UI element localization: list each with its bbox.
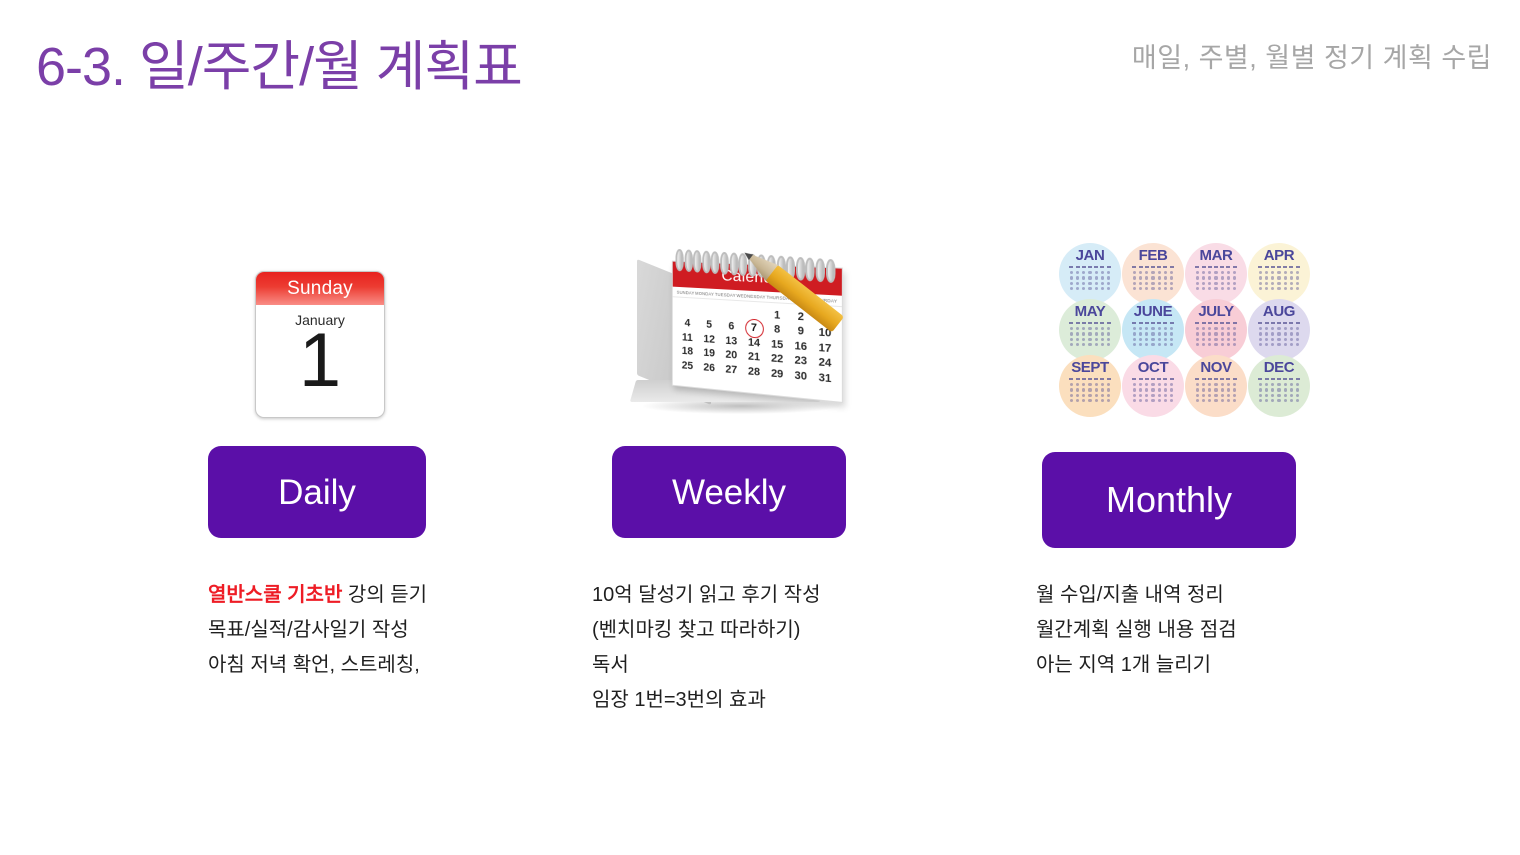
month-mini-cell xyxy=(1107,383,1110,386)
month-mini-cell xyxy=(1139,322,1143,324)
month-mini-cell xyxy=(1139,287,1142,290)
month-mini-cell xyxy=(1082,322,1086,324)
month-mini-cell xyxy=(1158,399,1161,402)
month-circle: SEPT xyxy=(1059,355,1121,417)
monthly-artwork: JANFEBMARAPRMAYJUNEJULYAUGSEPTOCTNOVDEC xyxy=(1020,236,1350,418)
desk-calendar-day: 5 xyxy=(700,318,719,331)
month-mini-cell xyxy=(1259,327,1262,330)
month-mini-cell xyxy=(1258,378,1262,380)
month-mini-cell xyxy=(1145,332,1148,335)
month-mini-cell xyxy=(1265,322,1269,324)
month-mini-cell xyxy=(1233,378,1237,380)
task-line-text: 월 수입/지출 내역 정리 xyxy=(1036,584,1224,606)
month-mini-cell xyxy=(1095,276,1098,279)
twelve-month-circles-icon: JANFEBMARAPRMAYJUNEJULYAUGSEPTOCTNOVDEC xyxy=(1059,243,1311,411)
desk-calendar-day: 8 xyxy=(767,323,787,337)
month-mini-cell xyxy=(1296,332,1299,335)
column-daily: Sunday January 1 xyxy=(160,236,480,418)
month-mini-cell xyxy=(1271,383,1274,386)
desk-calendar-day xyxy=(700,304,719,317)
month-mini-cell xyxy=(1158,338,1161,341)
month-mini-cell xyxy=(1164,383,1167,386)
month-mini-cell xyxy=(1133,394,1136,397)
month-mini-cell xyxy=(1069,378,1073,380)
month-mini-cell xyxy=(1221,399,1224,402)
month-mini-cell xyxy=(1271,399,1274,402)
month-mini-cell xyxy=(1095,282,1098,285)
month-mini-cell xyxy=(1164,338,1167,341)
desk-calendar-day: 12 xyxy=(700,332,719,345)
month-label: FEB xyxy=(1139,248,1168,263)
month-mini-cell xyxy=(1145,271,1148,274)
calendar-weekday-label: Sunday xyxy=(256,272,384,305)
month-mini-cell xyxy=(1139,343,1142,346)
month-mini-cell xyxy=(1170,322,1174,324)
month-mini-cell xyxy=(1133,327,1136,330)
month-mini-cell xyxy=(1076,383,1079,386)
month-mini-cell xyxy=(1107,271,1110,274)
month-mini-cell xyxy=(1158,327,1161,330)
month-mini-cell xyxy=(1265,287,1268,290)
desk-calendar-day: 11 xyxy=(678,331,696,344)
month-mini-cell xyxy=(1233,266,1237,268)
month-circle: OCT xyxy=(1122,355,1184,417)
month-mini-cell xyxy=(1157,266,1161,268)
month-mini-cell xyxy=(1214,383,1217,386)
month-mini-cell xyxy=(1101,327,1104,330)
month-mini-cell xyxy=(1088,378,1092,380)
month-mini-grid xyxy=(1195,266,1238,291)
month-mini-cell xyxy=(1139,266,1143,268)
month-mini-cell xyxy=(1227,338,1230,341)
month-mini-grid xyxy=(1069,322,1112,347)
month-mini-cell xyxy=(1070,271,1073,274)
month-mini-cell xyxy=(1202,388,1205,391)
weekly-button[interactable]: Weekly xyxy=(612,446,846,538)
month-mini-cell xyxy=(1296,282,1299,285)
month-mini-cell xyxy=(1082,266,1086,268)
month-mini-cell xyxy=(1158,332,1161,335)
month-label: JUNE xyxy=(1134,304,1172,319)
month-mini-cell xyxy=(1158,287,1161,290)
desk-calendar-day: 9 xyxy=(791,324,811,338)
spiral-ring xyxy=(729,252,738,275)
month-mini-cell xyxy=(1284,338,1287,341)
month-label: NOV xyxy=(1200,360,1231,375)
month-mini-cell xyxy=(1271,266,1275,268)
month-mini-cell xyxy=(1139,332,1142,335)
monthly-button[interactable]: Monthly xyxy=(1042,452,1296,548)
daily-button[interactable]: Daily xyxy=(208,446,426,538)
month-mini-cell xyxy=(1145,338,1148,341)
month-mini-cell xyxy=(1145,266,1149,268)
month-mini-cell xyxy=(1227,383,1230,386)
month-mini-cell xyxy=(1088,327,1091,330)
month-mini-cell xyxy=(1107,338,1110,341)
month-mini-cell xyxy=(1139,399,1142,402)
month-mini-cell xyxy=(1076,388,1079,391)
month-mini-cell xyxy=(1290,383,1293,386)
month-mini-cell xyxy=(1202,276,1205,279)
month-mini-cell xyxy=(1284,343,1287,346)
desk-calendar-day: 25 xyxy=(678,359,696,372)
month-mini-cell xyxy=(1145,276,1148,279)
month-mini-grid xyxy=(1258,322,1301,347)
month-mini-cell xyxy=(1196,383,1199,386)
desk-weekday-label: SUNDAY xyxy=(677,290,695,296)
month-circle: JUNE xyxy=(1122,299,1184,361)
desk-calendar-day: 28 xyxy=(744,365,764,379)
month-mini-cell xyxy=(1284,394,1287,397)
month-mini-cell xyxy=(1265,276,1268,279)
month-mini-cell xyxy=(1139,327,1142,330)
month-mini-cell xyxy=(1220,378,1224,380)
month-mini-cell xyxy=(1133,271,1136,274)
month-mini-cell xyxy=(1070,388,1073,391)
month-mini-cell xyxy=(1088,276,1091,279)
month-mini-cell xyxy=(1259,332,1262,335)
desk-calendar-day: 17 xyxy=(815,341,836,355)
daily-artwork: Sunday January 1 xyxy=(160,236,480,418)
desk-calendar-day: 22 xyxy=(767,352,787,366)
desk-calendar-with-pencil-icon: Calendar SUNDAYMONDAYTUESDAYWEDNESDAYTHU… xyxy=(625,246,855,418)
month-mini-cell xyxy=(1202,271,1205,274)
task-line-text: 독서 xyxy=(592,654,629,676)
month-mini-cell xyxy=(1233,287,1236,290)
month-mini-cell xyxy=(1296,271,1299,274)
month-mini-cell xyxy=(1227,271,1230,274)
month-mini-cell xyxy=(1133,276,1136,279)
month-mini-cell xyxy=(1139,383,1142,386)
month-mini-cell xyxy=(1296,388,1299,391)
calendar-day-number: 1 xyxy=(256,324,384,417)
month-mini-grid xyxy=(1132,266,1175,291)
month-mini-cell xyxy=(1076,378,1080,380)
month-mini-cell xyxy=(1101,343,1104,346)
month-mini-cell xyxy=(1133,343,1136,346)
month-mini-cell xyxy=(1265,383,1268,386)
month-mini-cell xyxy=(1283,378,1287,380)
desk-calendar-page: Calendar SUNDAYMONDAYTUESDAYWEDNESDAYTHU… xyxy=(672,261,843,403)
month-mini-cell xyxy=(1202,383,1205,386)
month-mini-cell xyxy=(1082,287,1085,290)
month-mini-cell xyxy=(1196,271,1199,274)
month-mini-cell xyxy=(1082,388,1085,391)
month-mini-cell xyxy=(1070,394,1073,397)
month-mini-cell xyxy=(1259,338,1262,341)
month-mini-cell xyxy=(1296,399,1299,402)
month-mini-cell xyxy=(1070,276,1073,279)
month-label: AUG xyxy=(1263,304,1295,319)
month-mini-cell xyxy=(1151,276,1154,279)
month-mini-cell xyxy=(1095,383,1098,386)
month-mini-cell xyxy=(1082,338,1085,341)
month-mini-cell xyxy=(1233,327,1236,330)
month-mini-cell xyxy=(1151,378,1155,380)
month-mini-cell xyxy=(1277,327,1280,330)
month-mini-cell xyxy=(1151,266,1155,268)
month-mini-cell xyxy=(1094,378,1098,380)
month-mini-cell xyxy=(1164,271,1167,274)
task-line-text: 10억 달성기 읽고 후기 작성 xyxy=(592,584,820,606)
month-mini-cell xyxy=(1070,332,1073,335)
page-subtitle: 매일, 주별, 월별 정기 계획 수립 xyxy=(1132,36,1492,75)
month-mini-cell xyxy=(1259,388,1262,391)
month-label: JULY xyxy=(1198,304,1233,319)
month-mini-cell xyxy=(1202,343,1205,346)
month-mini-cell xyxy=(1202,399,1205,402)
month-mini-cell xyxy=(1107,287,1110,290)
month-mini-cell xyxy=(1170,271,1173,274)
month-mini-cell xyxy=(1214,378,1218,380)
month-mini-cell xyxy=(1283,322,1287,324)
month-mini-cell xyxy=(1226,266,1230,268)
month-mini-cell xyxy=(1100,266,1104,268)
month-mini-cell xyxy=(1226,378,1230,380)
month-mini-cell xyxy=(1101,271,1104,274)
month-mini-cell xyxy=(1296,343,1299,346)
month-mini-cell xyxy=(1214,338,1217,341)
date-flip-calendar-icon: Sunday January 1 xyxy=(255,271,385,418)
month-mini-cell xyxy=(1284,332,1287,335)
month-mini-cell xyxy=(1202,394,1205,397)
month-circle: APR xyxy=(1248,243,1310,305)
month-mini-cell xyxy=(1296,378,1300,380)
month-mini-grid xyxy=(1195,378,1238,403)
month-mini-cell xyxy=(1158,388,1161,391)
month-mini-cell xyxy=(1095,327,1098,330)
month-mini-cell xyxy=(1227,276,1230,279)
month-mini-cell xyxy=(1289,378,1293,380)
month-mini-cell xyxy=(1133,383,1136,386)
month-mini-cell xyxy=(1296,322,1300,324)
month-mini-cell xyxy=(1259,271,1262,274)
month-mini-cell xyxy=(1289,266,1293,268)
month-mini-cell xyxy=(1070,287,1073,290)
task-line: 월간계획 실행 내용 점검 xyxy=(1036,613,1237,648)
month-mini-grid xyxy=(1195,322,1238,347)
month-mini-cell xyxy=(1221,343,1224,346)
month-mini-cell xyxy=(1158,276,1161,279)
desk-calendar-day: 31 xyxy=(815,371,836,385)
month-label: DEC xyxy=(1264,360,1294,375)
month-mini-cell xyxy=(1202,378,1206,380)
month-mini-cell xyxy=(1258,266,1262,268)
month-mini-cell xyxy=(1170,399,1173,402)
desk-calendar-day: 1 xyxy=(767,308,787,321)
month-mini-cell xyxy=(1145,399,1148,402)
month-mini-cell xyxy=(1277,276,1280,279)
month-mini-cell xyxy=(1145,287,1148,290)
desk-calendar-day: 29 xyxy=(767,367,787,381)
desk-calendar-day: 7 xyxy=(744,321,764,334)
month-mini-cell xyxy=(1271,322,1275,324)
month-mini-cell xyxy=(1151,388,1154,391)
task-line-text: 아침 저녁 확언, 스트레칭, xyxy=(208,654,420,676)
month-mini-cell xyxy=(1259,343,1262,346)
month-mini-cell xyxy=(1139,378,1143,380)
month-mini-cell xyxy=(1277,388,1280,391)
month-label: APR xyxy=(1264,248,1294,263)
column-weekly: Calendar SUNDAYMONDAYTUESDAYWEDNESDAYTHU… xyxy=(575,236,905,418)
month-mini-cell xyxy=(1076,322,1080,324)
month-mini-cell xyxy=(1277,266,1281,268)
month-mini-cell xyxy=(1221,271,1224,274)
month-mini-cell xyxy=(1145,394,1148,397)
month-mini-cell xyxy=(1158,343,1161,346)
month-mini-cell xyxy=(1259,276,1262,279)
month-mini-cell xyxy=(1220,266,1224,268)
month-mini-cell xyxy=(1284,271,1287,274)
month-mini-cell xyxy=(1208,327,1211,330)
month-mini-cell xyxy=(1214,271,1217,274)
month-mini-cell xyxy=(1070,399,1073,402)
month-mini-cell xyxy=(1208,399,1211,402)
month-mini-cell xyxy=(1151,282,1154,285)
month-mini-cell xyxy=(1163,322,1167,324)
month-mini-cell xyxy=(1277,338,1280,341)
task-line-text: 목표/실적/감사일기 작성 xyxy=(208,619,409,641)
month-mini-cell xyxy=(1076,343,1079,346)
month-mini-cell xyxy=(1107,327,1110,330)
month-mini-cell xyxy=(1271,338,1274,341)
month-mini-cell xyxy=(1195,322,1199,324)
spiral-ring xyxy=(816,258,825,282)
month-mini-cell xyxy=(1069,266,1073,268)
month-mini-cell xyxy=(1170,338,1173,341)
spiral-ring xyxy=(826,259,835,283)
month-circle: FEB xyxy=(1122,243,1184,305)
month-mini-cell xyxy=(1139,338,1142,341)
month-mini-cell xyxy=(1151,394,1154,397)
month-mini-cell xyxy=(1107,322,1111,324)
month-mini-cell xyxy=(1082,332,1085,335)
month-mini-cell xyxy=(1101,276,1104,279)
month-circle: MAR xyxy=(1185,243,1247,305)
month-mini-cell xyxy=(1133,332,1136,335)
month-mini-cell xyxy=(1145,388,1148,391)
month-mini-cell xyxy=(1283,266,1287,268)
month-mini-cell xyxy=(1277,394,1280,397)
month-mini-cell xyxy=(1265,327,1268,330)
spiral-ring xyxy=(796,257,805,281)
month-mini-cell xyxy=(1214,388,1217,391)
month-mini-cell xyxy=(1226,322,1230,324)
desk-weekday-label: TUESDAY xyxy=(715,292,736,298)
month-mini-cell xyxy=(1101,332,1104,335)
month-mini-cell xyxy=(1289,322,1293,324)
task-line-text: 월간계획 실행 내용 점검 xyxy=(1036,619,1237,641)
task-line-text: 강의 듣기 xyxy=(342,584,427,606)
month-mini-cell xyxy=(1233,282,1236,285)
month-mini-cell xyxy=(1196,282,1199,285)
spiral-ring xyxy=(806,257,815,281)
month-mini-cell xyxy=(1170,266,1174,268)
month-mini-cell xyxy=(1082,327,1085,330)
month-mini-cell xyxy=(1233,383,1236,386)
month-mini-cell xyxy=(1233,343,1236,346)
month-mini-cell xyxy=(1170,282,1173,285)
desk-weekday-label: MONDAY xyxy=(695,291,714,297)
month-mini-cell xyxy=(1170,327,1173,330)
month-mini-cell xyxy=(1227,343,1230,346)
month-mini-cell xyxy=(1221,287,1224,290)
month-mini-cell xyxy=(1227,394,1230,397)
month-mini-cell xyxy=(1202,332,1205,335)
month-mini-cell xyxy=(1101,287,1104,290)
month-mini-cell xyxy=(1088,338,1091,341)
desk-calendar-day: 27 xyxy=(722,363,741,377)
month-mini-cell xyxy=(1095,332,1098,335)
month-mini-cell xyxy=(1277,383,1280,386)
month-mini-cell xyxy=(1284,399,1287,402)
month-mini-cell xyxy=(1265,338,1268,341)
desk-calendar-day: 6 xyxy=(722,320,741,333)
month-mini-cell xyxy=(1107,276,1110,279)
month-circle: DEC xyxy=(1248,355,1310,417)
month-mini-cell xyxy=(1107,332,1110,335)
month-mini-cell xyxy=(1214,399,1217,402)
task-line: (벤치마킹 찾고 따라하기) xyxy=(592,613,820,648)
desk-calendar-day: 4 xyxy=(678,317,696,330)
monthly-task-list: 월 수입/지출 내역 정리월간계획 실행 내용 점검아는 지역 1개 늘리기 xyxy=(1036,578,1237,683)
task-line: 10억 달성기 읽고 후기 작성 xyxy=(592,578,820,613)
month-mini-cell xyxy=(1107,394,1110,397)
month-mini-cell xyxy=(1095,394,1098,397)
month-mini-cell xyxy=(1233,394,1236,397)
month-mini-cell xyxy=(1202,338,1205,341)
task-line: 열반스쿨 기초반 강의 듣기 xyxy=(208,578,427,613)
month-mini-cell xyxy=(1070,327,1073,330)
month-mini-cell xyxy=(1082,383,1085,386)
month-mini-cell xyxy=(1076,332,1079,335)
month-mini-cell xyxy=(1227,399,1230,402)
month-mini-cell xyxy=(1259,383,1262,386)
month-circle: AUG xyxy=(1248,299,1310,361)
month-mini-cell xyxy=(1145,322,1149,324)
month-mini-cell xyxy=(1233,276,1236,279)
month-mini-cell xyxy=(1133,388,1136,391)
month-mini-cell xyxy=(1145,343,1148,346)
month-circle: JULY xyxy=(1185,299,1247,361)
month-mini-cell xyxy=(1202,327,1205,330)
month-mini-cell xyxy=(1208,322,1212,324)
task-line-text: 아는 지역 1개 늘리기 xyxy=(1036,654,1211,676)
month-mini-cell xyxy=(1202,322,1206,324)
month-mini-cell xyxy=(1214,394,1217,397)
month-circle: NOV xyxy=(1185,355,1247,417)
month-mini-cell xyxy=(1076,338,1079,341)
month-mini-cell xyxy=(1277,287,1280,290)
month-mini-cell xyxy=(1101,383,1104,386)
month-mini-cell xyxy=(1095,271,1098,274)
month-mini-cell xyxy=(1170,394,1173,397)
month-mini-cell xyxy=(1088,287,1091,290)
month-mini-cell xyxy=(1196,338,1199,341)
spiral-ring xyxy=(702,251,710,274)
month-mini-cell xyxy=(1095,343,1098,346)
month-mini-cell xyxy=(1088,282,1091,285)
month-mini-cell xyxy=(1094,322,1098,324)
month-mini-cell xyxy=(1196,332,1199,335)
month-mini-cell xyxy=(1070,338,1073,341)
month-label: MAR xyxy=(1200,248,1233,263)
month-mini-cell xyxy=(1271,271,1274,274)
month-mini-cell xyxy=(1139,276,1142,279)
month-mini-cell xyxy=(1290,343,1293,346)
task-line-highlight: 열반스쿨 기초반 xyxy=(208,584,342,606)
month-mini-cell xyxy=(1290,287,1293,290)
